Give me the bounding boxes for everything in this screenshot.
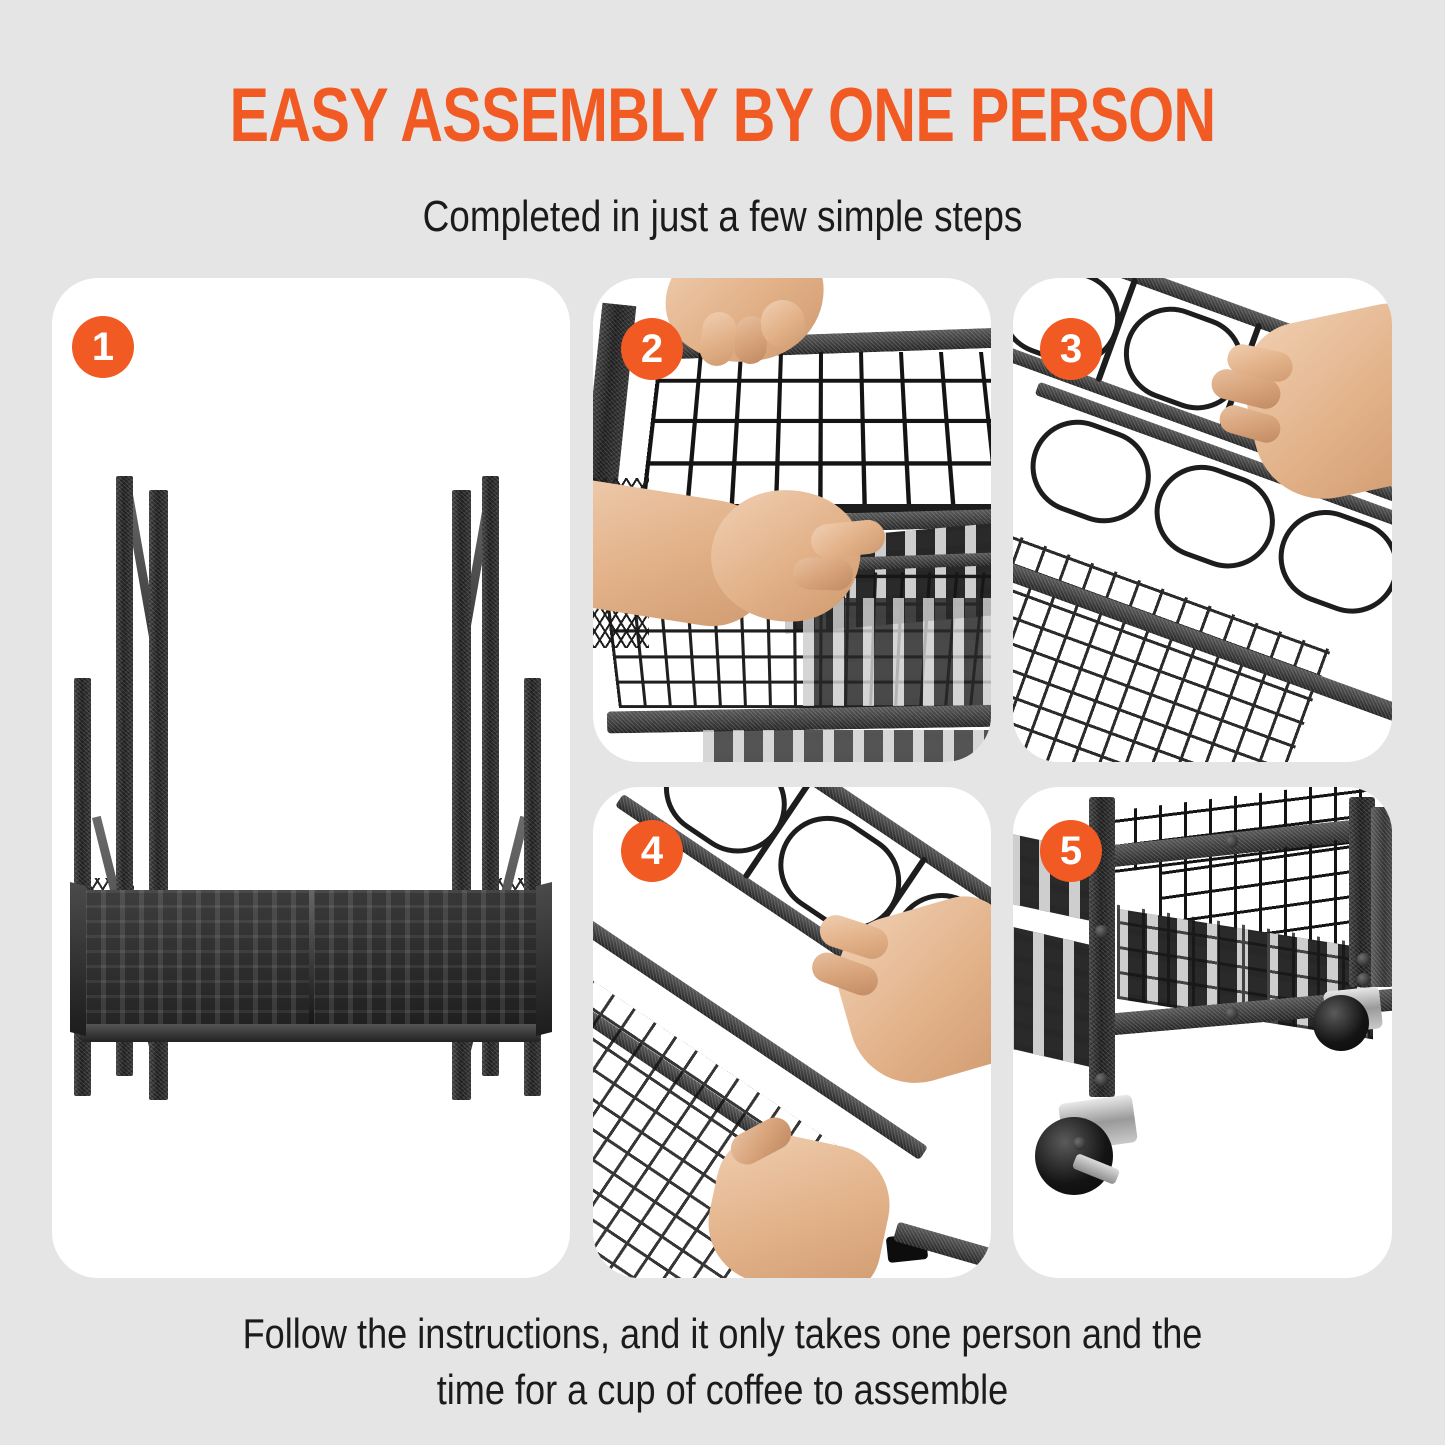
caster-pivot-screw bbox=[1073, 1137, 1086, 1150]
page-title: EASY ASSEMBLY BY ONE PERSON bbox=[159, 78, 1286, 154]
post-screw-4 bbox=[1357, 973, 1370, 986]
footer-caption: Follow the instructions, and it only tak… bbox=[0, 1306, 1445, 1418]
bottom-deck-strip bbox=[703, 730, 991, 762]
rear-right-post-inner bbox=[1371, 807, 1392, 987]
step-badge-1: 1 bbox=[72, 316, 134, 378]
footer-line-1: Follow the instructions, and it only tak… bbox=[101, 1306, 1344, 1362]
post-screw-1 bbox=[1095, 925, 1108, 938]
lower-hand-thumb bbox=[792, 557, 853, 591]
step-badge-4: 4 bbox=[621, 820, 683, 882]
step-badge-2: 2 bbox=[621, 318, 683, 380]
post-screw-2 bbox=[1095, 1073, 1108, 1086]
step-panel-1[interactable] bbox=[52, 278, 570, 1278]
step-badge-3: 3 bbox=[1040, 318, 1102, 380]
lower-rail-screw bbox=[1225, 1007, 1238, 1020]
shelf-center-seam bbox=[309, 890, 314, 1028]
shelf-skirt-right bbox=[536, 882, 552, 1036]
shelf-skirt-left bbox=[70, 882, 86, 1036]
step-badge-5: 5 bbox=[1040, 820, 1102, 882]
footer-line-2: time for a cup of coffee to assemble bbox=[101, 1362, 1344, 1418]
upper-rail-screw bbox=[1225, 835, 1238, 848]
shelf-front-edge bbox=[82, 1024, 540, 1042]
right-caster-wheel bbox=[1313, 995, 1369, 1051]
header: EASY ASSEMBLY BY ONE PERSON Completed in… bbox=[0, 0, 1445, 268]
lower-deck-slots bbox=[803, 598, 991, 706]
upper-wire-mesh bbox=[640, 352, 991, 511]
left-caster-wheel bbox=[1035, 1117, 1113, 1195]
post-screw-3 bbox=[1357, 953, 1370, 966]
page-subtitle: Completed in just a few simple steps bbox=[116, 193, 1330, 241]
bottom-shelf bbox=[82, 890, 540, 1028]
